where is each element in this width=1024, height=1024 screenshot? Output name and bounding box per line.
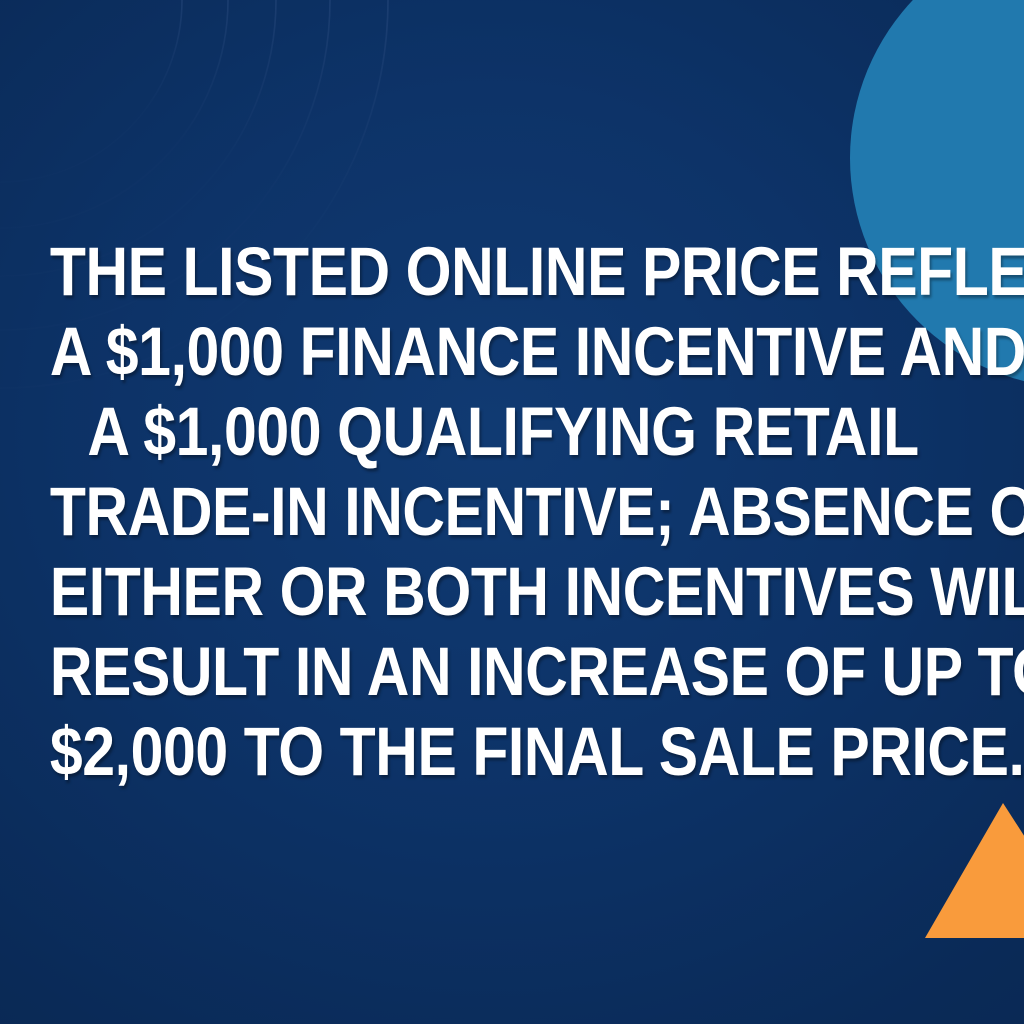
headline-line-4: TRADE-IN INCENTIVE; ABSENCE OF xyxy=(50,472,956,552)
headline-line-6: RESULT IN AN INCREASE OF UP TO xyxy=(50,632,956,712)
headline-line-2: A $1,000 FINANCE INCENTIVE AND xyxy=(50,312,956,392)
headline-line-1: THE LISTED ONLINE PRICE REFLECTS xyxy=(50,232,956,312)
headline-line-5: EITHER OR BOTH INCENTIVES WILL xyxy=(50,552,956,632)
headline-line-7: $2,000 TO THE FINAL SALE PRICE. xyxy=(50,712,956,792)
headline-line-3: A $1,000 QUALIFYING RETAIL xyxy=(50,392,956,472)
headline-lines: THE LISTED ONLINE PRICE REFLECTS A $1,00… xyxy=(0,232,1024,792)
promo-card: THE LISTED ONLINE PRICE REFLECTS A $1,00… xyxy=(0,0,1024,1024)
headline-block: THE LISTED ONLINE PRICE REFLECTS A $1,00… xyxy=(0,0,1024,1024)
